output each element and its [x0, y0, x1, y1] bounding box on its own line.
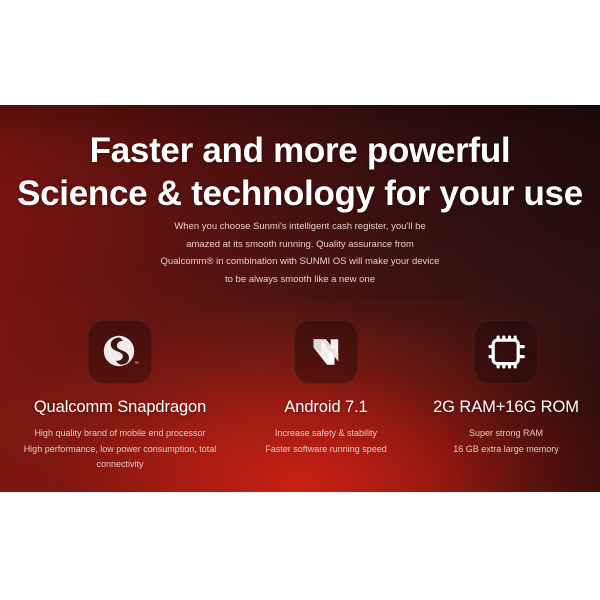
- feature-desc-line: Super strong RAM: [453, 426, 559, 442]
- android-nougat-icon: [307, 333, 345, 371]
- headline-line-1: Faster and more powerful: [0, 129, 600, 172]
- feature-icon-container: ™: [88, 320, 152, 384]
- feature-description: High quality brand of mobile end process…: [24, 426, 217, 473]
- feature-description: Super strong RAM 16 GB extra large memor…: [453, 426, 559, 457]
- feature-title: 2G RAM+16G ROM: [433, 397, 579, 417]
- feature-desc-line: connectivity: [24, 457, 217, 473]
- banner-content: Faster and more powerful Science & techn…: [0, 105, 600, 492]
- page-root: Faster and more powerful Science & techn…: [0, 0, 600, 600]
- headline: Faster and more powerful Science & techn…: [0, 129, 600, 215]
- promo-banner: Faster and more powerful Science & techn…: [0, 105, 600, 492]
- feature-title: Qualcomm Snapdragon: [34, 397, 206, 417]
- feature-desc-line: High quality brand of mobile end process…: [24, 426, 217, 442]
- feature-desc-line: 16 GB extra large memory: [453, 442, 559, 458]
- feature-desc-line: Faster software running speed: [265, 442, 387, 458]
- subcopy-line-3: Qualcomm® in combination with SUNMI OS w…: [150, 253, 450, 271]
- svg-text:™: ™: [134, 361, 139, 367]
- memory-chip-icon: [486, 333, 526, 371]
- feature-desc-line: Increase safety & stability: [265, 426, 387, 442]
- feature-title: Android 7.1: [284, 397, 367, 417]
- headline-line-2: Science & technology for your use: [0, 172, 600, 215]
- qualcomm-snapdragon-icon: ™: [100, 332, 140, 372]
- feature-list: ™ Qualcomm Snapdragon High quality brand…: [0, 320, 600, 473]
- subcopy-line-4: to be always smooth like a new one: [150, 271, 450, 289]
- banner-subcopy: When you choose Sunmi's intelligent cash…: [150, 218, 450, 288]
- feature-item-memory: 2G RAM+16G ROM Super strong RAM 16 GB ex…: [412, 320, 600, 457]
- feature-icon-container: [474, 320, 538, 384]
- subcopy-line-2: amazed at its smooth running. Quality as…: [150, 236, 450, 254]
- feature-icon-container: [294, 320, 358, 384]
- feature-description: Increase safety & stability Faster softw…: [265, 426, 387, 457]
- feature-desc-line: High performance, low power consumption,…: [24, 442, 217, 458]
- feature-item-android: Android 7.1 Increase safety & stability …: [240, 320, 412, 457]
- feature-item-snapdragon: ™ Qualcomm Snapdragon High quality brand…: [0, 320, 240, 473]
- subcopy-line-1: When you choose Sunmi's intelligent cash…: [150, 218, 450, 236]
